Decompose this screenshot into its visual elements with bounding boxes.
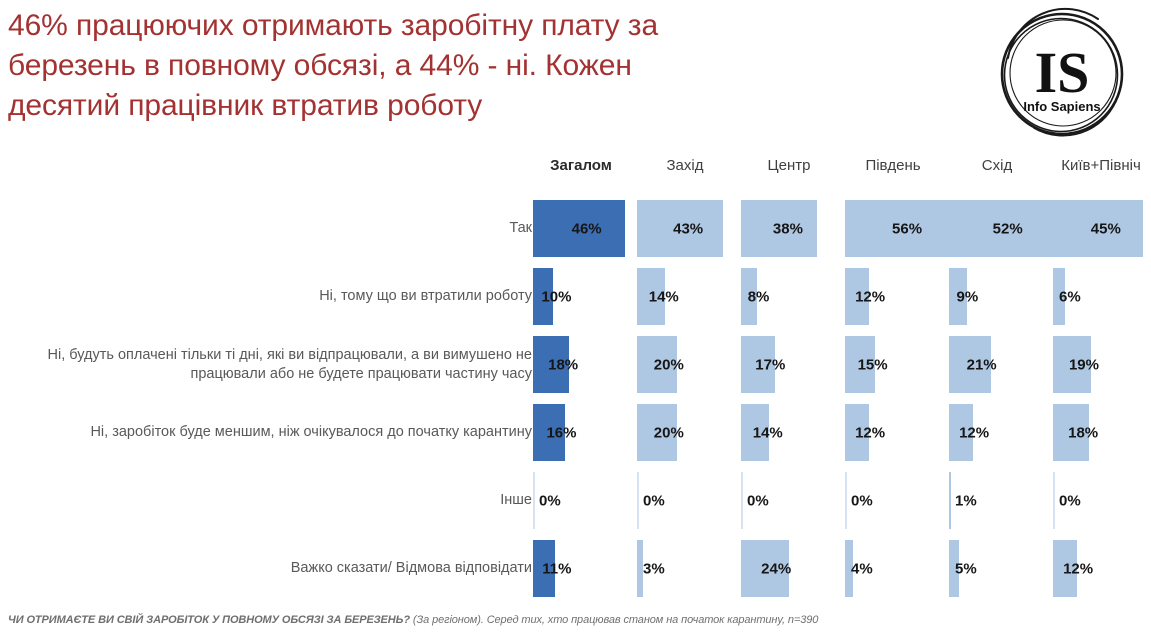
column-header-1: Загалом	[525, 155, 637, 177]
column-header-4: Південь	[837, 155, 949, 177]
bar-value-label: 20%	[654, 424, 684, 441]
bar-cell: 6%	[1053, 268, 1151, 325]
bar	[845, 472, 847, 529]
bar-value-label: 0%	[1059, 492, 1081, 509]
bar-value-label: 14%	[649, 288, 679, 305]
footnote-scope: (За регіоном). Серед тих, хто працював с…	[410, 614, 818, 626]
chart-row: Ні, будуть оплачені тільки ті дні, які в…	[0, 336, 1151, 393]
bar-value-label: 0%	[747, 492, 769, 509]
bar	[637, 472, 639, 529]
bar-value-label: 15%	[858, 356, 888, 373]
chart-row: Важко сказати/ Відмова відповідати11%3%2…	[0, 540, 1151, 597]
bar-value-label: 1%	[955, 492, 977, 509]
column-header-3: Центр	[733, 155, 845, 177]
page-title: 46% працюючих отримають заробітну плату …	[8, 6, 968, 126]
svg-text:Info Sapiens: Info Sapiens	[1023, 99, 1100, 114]
column-header-6: Київ+Північ	[1045, 155, 1151, 177]
bar-value-label: 11%	[542, 560, 571, 577]
bar-cell: 45%	[1053, 200, 1151, 257]
bar-value-label: 12%	[855, 288, 885, 305]
bar-value-label: 0%	[539, 492, 561, 509]
column-header-2: Захід	[629, 155, 741, 177]
bar-value-label: 3%	[643, 560, 665, 577]
bar-value-label: 8%	[748, 288, 770, 305]
row-bars: 46%43%38%56%52%45%	[0, 200, 1151, 257]
bar-value-label: 5%	[955, 560, 977, 577]
bar-value-label: 4%	[851, 560, 873, 577]
bar-value-label: 0%	[643, 492, 665, 509]
bar-value-label: 38%	[773, 220, 803, 237]
bar-value-label: 19%	[1069, 356, 1099, 373]
bar-value-label: 56%	[892, 220, 922, 237]
bar-cell: 19%	[1053, 336, 1151, 393]
bar-value-label: 46%	[572, 220, 602, 237]
bar-value-label: 16%	[546, 424, 576, 441]
chart-row: Ні, тому що ви втратили роботу10%14%8%12…	[0, 268, 1151, 325]
row-bars: 18%20%17%15%21%19%	[0, 336, 1151, 393]
bar-value-label: 12%	[855, 424, 885, 441]
bar-value-label: 9%	[957, 288, 979, 305]
bar-value-label: 45%	[1091, 220, 1121, 237]
bar-cell: 0%	[1053, 472, 1151, 529]
bar-value-label: 21%	[967, 356, 997, 373]
bar-value-label: 43%	[673, 220, 703, 237]
region-breakdown-chart: ЗагаломЗахідЦентрПівденьСхідКиїв+Північ …	[0, 155, 1151, 605]
footnote: ЧИ ОТРИМАЄТЕ ВИ СВІЙ ЗАРОБІТОК У ПОВНОМУ…	[8, 614, 818, 626]
row-bars: 11%3%24%4%5%12%	[0, 540, 1151, 597]
bar-value-label: 17%	[755, 356, 785, 373]
bar	[949, 472, 951, 529]
row-bars: 10%14%8%12%9%6%	[0, 268, 1151, 325]
footnote-question: ЧИ ОТРИМАЄТЕ ВИ СВІЙ ЗАРОБІТОК У ПОВНОМУ…	[8, 614, 410, 626]
bar	[741, 472, 743, 529]
chart-row: Інше0%0%0%0%1%0%	[0, 472, 1151, 529]
bar-value-label: 12%	[1063, 560, 1093, 577]
bar-value-label: 14%	[753, 424, 783, 441]
bar-value-label: 10%	[541, 288, 571, 305]
bar-value-label: 24%	[761, 560, 791, 577]
title-block: 46% працюючих отримають заробітну плату …	[8, 6, 968, 126]
row-bars: 0%0%0%0%1%0%	[0, 472, 1151, 529]
column-header-5: Схід	[941, 155, 1053, 177]
svg-text:IS: IS	[1035, 40, 1090, 105]
bar-value-label: 52%	[993, 220, 1023, 237]
column-headers: ЗагаломЗахідЦентрПівденьСхідКиїв+Північ	[0, 155, 1151, 185]
bar-value-label: 0%	[851, 492, 873, 509]
bar	[1053, 472, 1055, 529]
bar-value-label: 6%	[1059, 288, 1081, 305]
bar-value-label: 20%	[654, 356, 684, 373]
bar-cell: 12%	[1053, 540, 1151, 597]
bar-value-label: 18%	[1068, 424, 1098, 441]
row-bars: 16%20%14%12%12%18%	[0, 404, 1151, 461]
bar-cell: 18%	[1053, 404, 1151, 461]
bar-value-label: 12%	[959, 424, 989, 441]
bar-value-label: 18%	[548, 356, 578, 373]
chart-row: Ні, заробіток буде меншим, ніж очікувало…	[0, 404, 1151, 461]
bar	[533, 472, 535, 529]
info-sapiens-logo: IS Info Sapiens	[994, 6, 1130, 142]
chart-row: Так46%43%38%56%52%45%	[0, 200, 1151, 257]
